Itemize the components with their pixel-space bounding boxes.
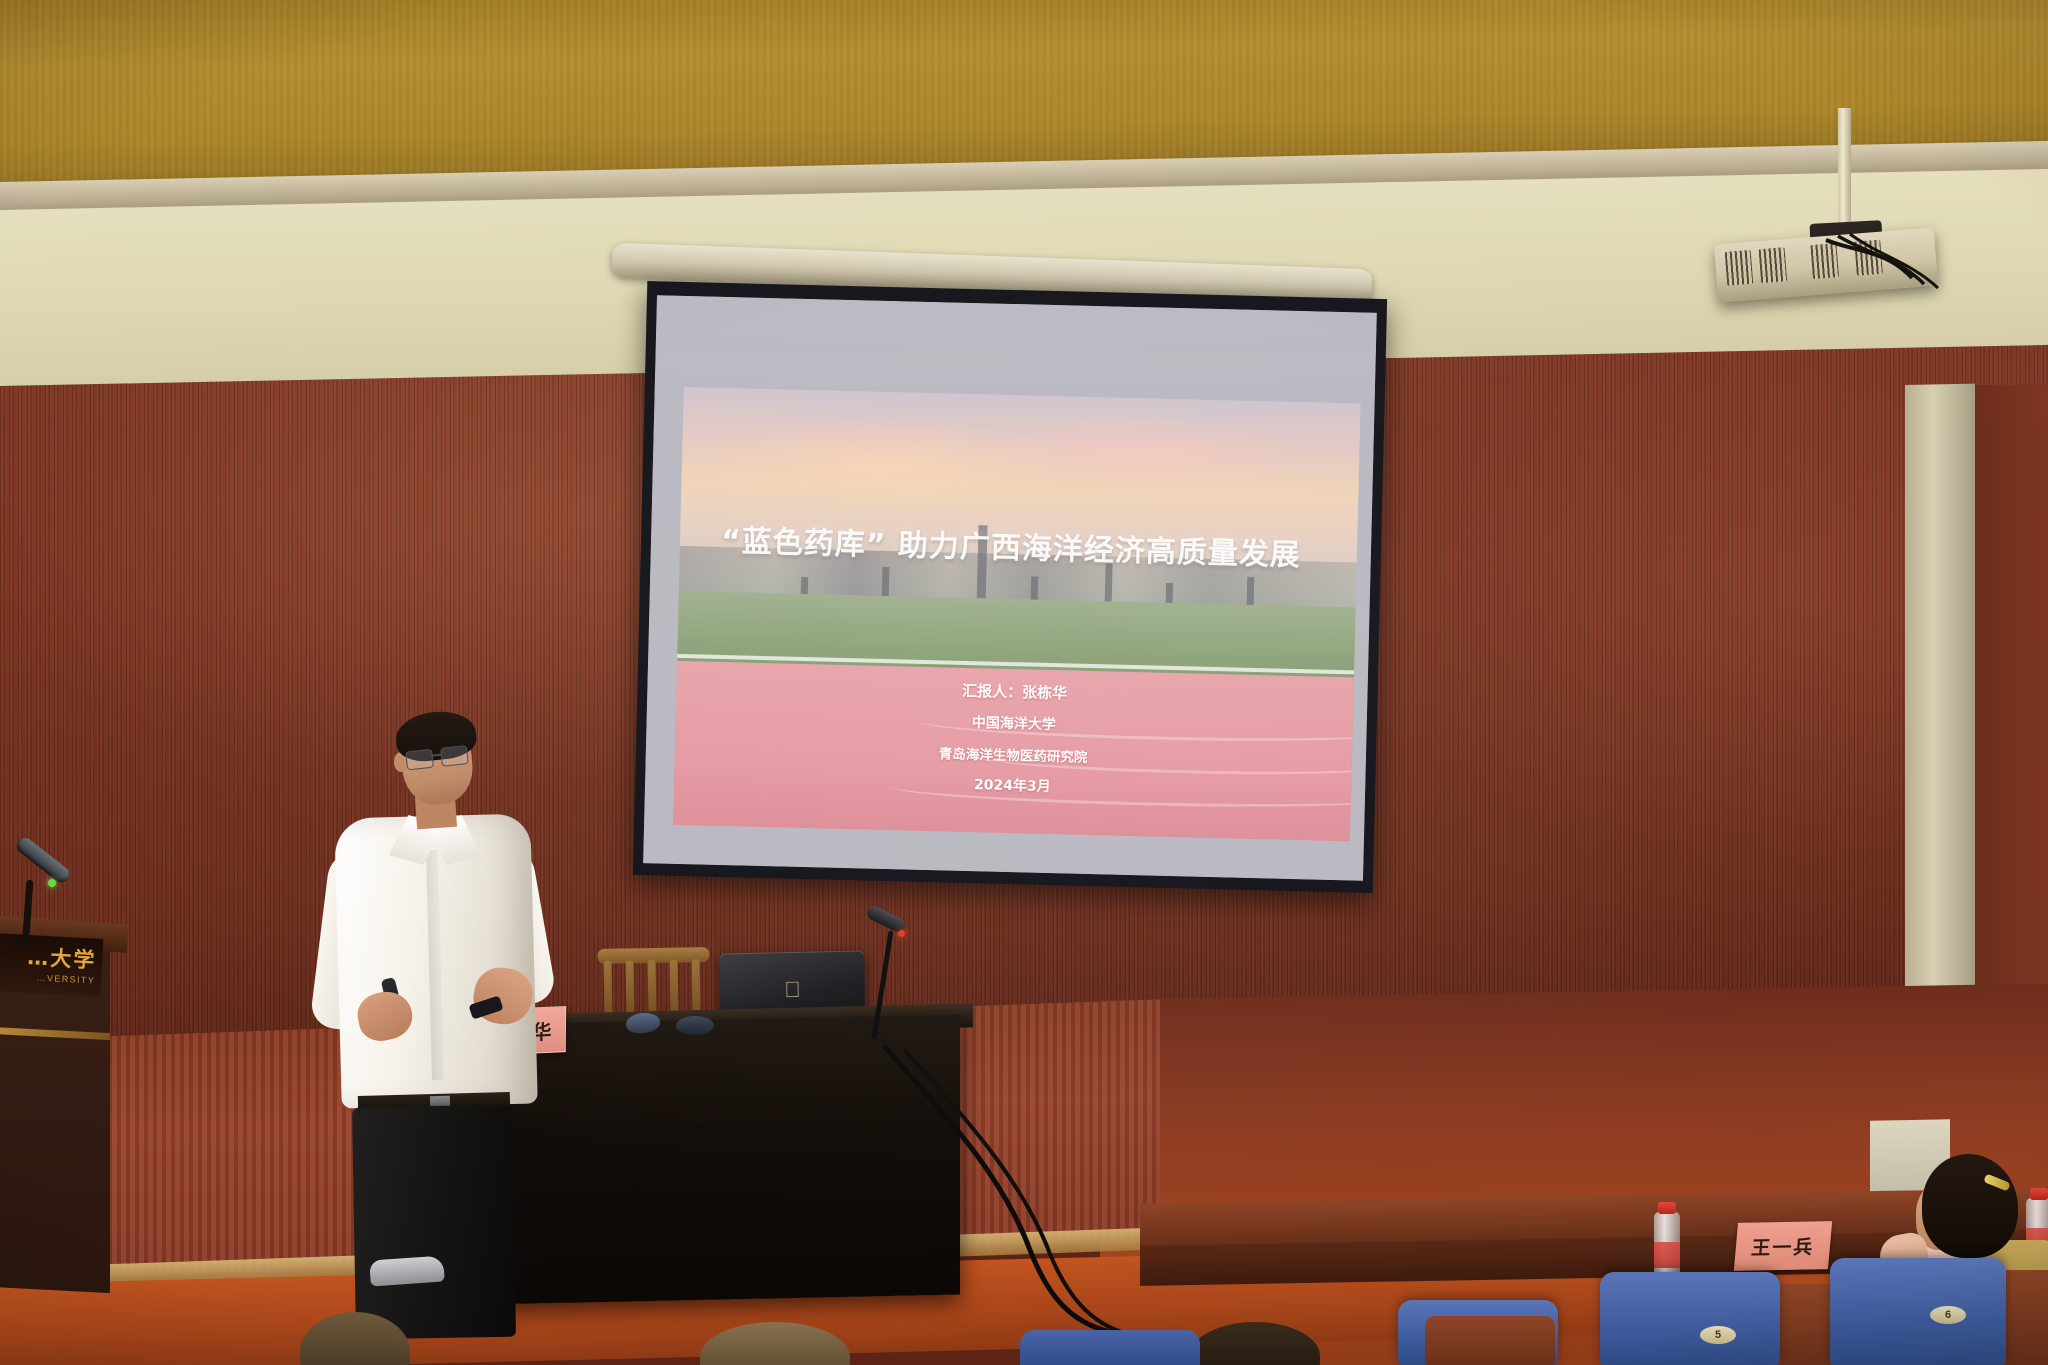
audience-person-hair: [1922, 1154, 2018, 1258]
podium-logo-cn: …大学: [27, 947, 97, 972]
presenter-trousers: [352, 1105, 516, 1340]
projection-screen-surface: “蓝色药库” 助力广西海洋经济高质量发展 汇报人：张栋华 中国海洋大学 青岛海洋…: [643, 295, 1377, 880]
seat-number-plate: 6: [1930, 1306, 1966, 1324]
podium-nameplate: …大学 …VERSITY: [0, 933, 103, 997]
audience-seat[interactable]: [1830, 1258, 2006, 1365]
seat-number-5: 5: [1715, 1329, 1721, 1341]
right-wall-column: [1905, 384, 1975, 995]
presentation-slide: “蓝色药库” 助力广西海洋经济高质量发展 汇报人：张栋华 中国海洋大学 青岛海洋…: [643, 295, 1377, 880]
bottle-label: [1654, 1242, 1680, 1268]
foreground-seat: [1020, 1330, 1200, 1365]
right-wall-edge: [1975, 385, 2048, 997]
lecture-hall-scene: “蓝色药库” 助力广西海洋经济高质量发展 汇报人：张栋华 中国海洋大学 青岛海洋…: [0, 0, 2048, 1365]
projection-screen-frame: “蓝色药库” 助力广西海洋经济高质量发展 汇报人：张栋华 中国海洋大学 青岛海洋…: [633, 281, 1387, 893]
desk-puck-device[interactable]: [676, 1016, 714, 1035]
podium-logo-en: …VERSITY: [36, 972, 95, 985]
audience-name-text: 王一兵: [1750, 1232, 1815, 1260]
seat-number-6: 6: [1945, 1309, 1951, 1321]
water-bottle[interactable]: [1654, 1212, 1680, 1280]
audience-name-placard: 王一兵: [1734, 1221, 1832, 1271]
slide-info-band: 汇报人：张栋华 中国海洋大学 青岛海洋生物医药研究院 2024年3月: [673, 661, 1354, 842]
mic-power-led-icon: [48, 879, 56, 887]
desk-mic-led-icon: [898, 930, 905, 937]
presenter-person: [310, 700, 580, 1320]
presenter-shoe: [369, 1255, 445, 1286]
seat-number-plate: 5: [1700, 1326, 1736, 1344]
slide-affiliation-1: 中国海洋大学: [675, 705, 1352, 742]
slide-affiliation-2: 青岛海洋生物医药研究院: [675, 736, 1352, 773]
bottle-cap-icon: [1658, 1202, 1676, 1214]
seat-frame: [1425, 1316, 1555, 1365]
audience-seat[interactable]: [1600, 1272, 1780, 1365]
apple-logo-icon: : [784, 979, 801, 1001]
projector-mount-rod: [1838, 108, 1851, 228]
slide-presenter-line: 汇报人：张栋华: [676, 673, 1353, 711]
